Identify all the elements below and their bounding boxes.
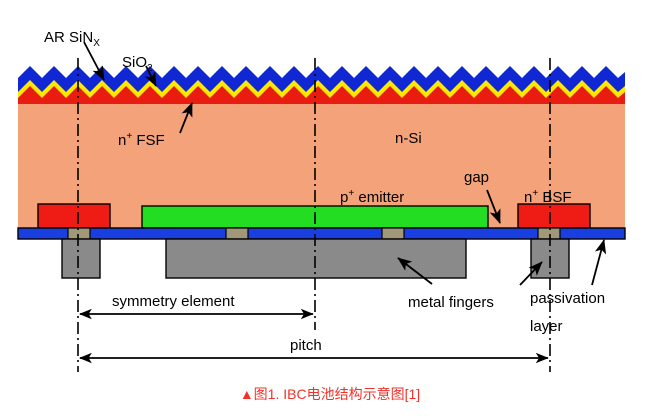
label-bsf-rest: BSF [538, 189, 571, 206]
contact-opening-emitter-1 [226, 228, 248, 239]
label-metal-fingers-text: metal fingers [408, 294, 494, 311]
label-symmetry-element-text: symmetry element [112, 293, 235, 310]
label-pitch: pitch [290, 338, 322, 354]
contact-opening-right [538, 228, 560, 239]
label-gap: gap [464, 170, 489, 186]
contact-opening-left [68, 228, 90, 239]
passivation-layer [18, 228, 625, 239]
label-bulk-text: n-Si [395, 130, 422, 147]
figure-caption: ▲图1. IBC电池结构示意图[1] [0, 384, 660, 404]
label-fsf-rest: FSF [132, 132, 165, 149]
contact-opening-emitter-2 [382, 228, 404, 239]
label-sio2-text: SiO [122, 54, 147, 71]
label-sio2: SiO2 [122, 55, 153, 71]
label-sio2-subscript: 2 [147, 63, 153, 74]
figure-canvas: AR SiNX SiO2 n+ FSF n-Si gap p+ emitter … [0, 0, 660, 420]
label-emitter-rest: emitter [354, 189, 404, 206]
bsf-block-right [518, 204, 590, 228]
label-metal-fingers: metal fingers [408, 295, 494, 311]
label-ar-sinx-text: AR SiN [44, 29, 93, 46]
label-passivation-line1: passivation [530, 291, 605, 307]
label-ar-sinx-subscript: X [93, 38, 100, 49]
label-symmetry-element: symmetry element [112, 294, 235, 310]
label-fsf: n+ FSF [118, 133, 165, 149]
label-ar-sinx: AR SiNX [44, 30, 100, 46]
label-bulk-nsi: n-Si [395, 131, 422, 147]
label-bsf: n+ BSF [524, 190, 572, 206]
label-pitch-text: pitch [290, 337, 322, 354]
ibc-cell-cross-section [0, 0, 660, 420]
leader-passivation-layer [592, 240, 604, 285]
metal-finger-center [166, 239, 466, 278]
metal-finger-left [62, 239, 100, 278]
figure-caption-text: ▲图1. IBC电池结构示意图[1] [240, 386, 420, 402]
label-passivation-line2: layer [530, 319, 605, 335]
label-passivation-layer: passivation layer [530, 291, 605, 335]
label-emitter: p+ emitter [340, 190, 404, 206]
bsf-block-left [38, 204, 110, 228]
label-gap-text: gap [464, 169, 489, 186]
